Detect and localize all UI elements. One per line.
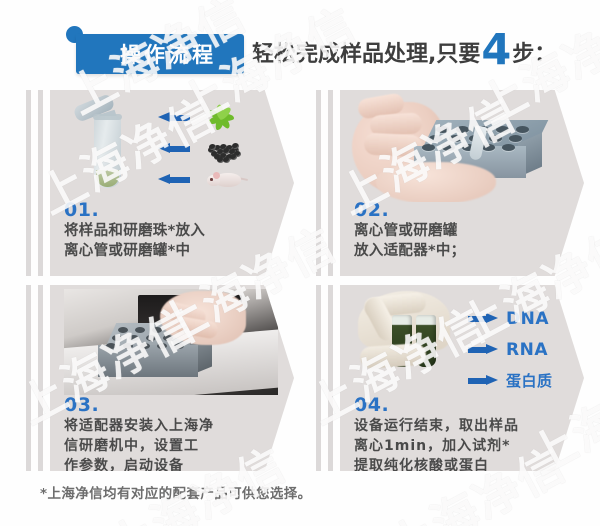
step-text-block-03: 03. 将适配器安装入上海净 信研磨机中，设置工 作参数，启动设备 [64, 395, 284, 476]
step-number: 01. [64, 200, 284, 220]
card-body: 03. 将适配器安装入上海净 信研磨机中，设置工 作参数，启动设备 [50, 285, 294, 471]
card-body: 02. 离心管或研磨罐 放入适配器*中； [340, 90, 584, 276]
gloved-hand-with-vials-photo [354, 289, 474, 393]
step-text-block-01: 01. 将样品和研磨珠*放入 离心管或研磨罐*中 [64, 200, 284, 261]
step-artwork-03 [50, 285, 294, 397]
steps-grid: 01. 将样品和研磨珠*放入 离心管或研磨罐*中 [0, 88, 600, 476]
step-artwork-01 [50, 90, 294, 202]
leaf-sample-icon [204, 104, 248, 130]
step-artwork-02 [340, 90, 584, 202]
output-list: DNA RNA 蛋白质 [468, 307, 578, 397]
adapter-well [118, 327, 128, 333]
step-number: 03. [64, 395, 284, 415]
arrow-left-icon [158, 143, 190, 154]
headline-step-count: 4 [481, 29, 511, 72]
adapter-well [482, 144, 495, 151]
step-card-02: 02. 离心管或研磨罐 放入适配器*中； [316, 90, 584, 276]
step-card-04: DNA RNA 蛋白质 [316, 285, 584, 471]
adapter-well [516, 126, 529, 133]
step-description: 将样品和研磨珠*放入 离心管或研磨罐*中 [64, 221, 284, 261]
card-accent-bar [316, 90, 321, 276]
adapter-well [129, 335, 139, 341]
headline: 轻松完成样品处理,只要 4 步： [252, 26, 556, 69]
card-accent-bar [328, 285, 333, 471]
adapter-well [502, 144, 515, 151]
adapter-well [509, 135, 522, 142]
card-accent-bar [38, 285, 43, 471]
step-text-block-02: 02. 离心管或研磨罐 放入适配器*中； [354, 200, 574, 261]
adapter-well [140, 343, 150, 349]
step-text-block-04: 04. 设备运行结束，取出样品 离心1min，加入试剂* 提取纯化核酸或蛋白 [354, 395, 574, 476]
adapter-well [449, 135, 462, 142]
output-label: DNA [506, 309, 549, 329]
card-accent-bar [26, 90, 31, 276]
adapter-well [456, 126, 469, 133]
sample-row-mouse [158, 168, 278, 190]
adapter-well [422, 144, 435, 151]
hand-with-adapter-photo [346, 92, 578, 202]
mouse-sample-icon [204, 166, 248, 192]
arrow-right-icon [468, 344, 498, 355]
step-artwork-04: DNA RNA 蛋白质 [340, 285, 584, 397]
adapter-well [157, 343, 167, 349]
step-card-01: 01. 将样品和研磨珠*放入 离心管或研磨罐*中 [26, 90, 294, 276]
banner-title: 操作流程 [76, 34, 244, 74]
adapter-well [146, 335, 156, 341]
adapter-well [489, 135, 502, 142]
step-number: 02. [354, 200, 574, 220]
output-label: RNA [506, 340, 548, 360]
adapter-well [174, 343, 184, 349]
output-label: 蛋白质 [506, 370, 553, 391]
headline-suffix: 步： [512, 36, 556, 68]
arrow-right-icon [468, 375, 498, 386]
centrifuge-tube-icon [82, 98, 126, 194]
card-accent-bar [316, 285, 321, 471]
card-accent-bar [328, 90, 333, 276]
adapter-well [429, 135, 442, 142]
arrow-left-icon [158, 174, 190, 185]
adapter-block-front [98, 345, 198, 377]
thumb-shape [359, 343, 426, 370]
adapter-well [112, 335, 122, 341]
beads-sample-icon [204, 135, 248, 161]
adapter-well [442, 144, 455, 151]
output-row-rna: RNA [468, 338, 578, 361]
headline-prefix: 轻松完成样品处理,只要 [252, 36, 480, 68]
card-accent-bar [26, 285, 31, 471]
adapter-well [152, 327, 162, 333]
arrow-right-icon [468, 313, 498, 324]
adapter-well [106, 343, 116, 349]
sample-row-beads [158, 137, 278, 159]
header: 操作流程 轻松完成样品处理,只要 4 步： [0, 0, 600, 86]
grinder-machine-photo [64, 289, 278, 395]
arrow-left-icon [158, 112, 190, 123]
card-accent-bar [38, 90, 43, 276]
adapter-well [123, 343, 133, 349]
step-description: 设备运行结束，取出样品 离心1min，加入试剂* 提取纯化核酸或蛋白 [354, 416, 574, 476]
tube-rim-icon [93, 114, 122, 120]
step-description: 将适配器安装入上海净 信研磨机中，设置工 作参数，启动设备 [64, 416, 284, 476]
adapter-well [496, 126, 509, 133]
sample-row-leaf [158, 106, 278, 128]
step-number: 04. [354, 395, 574, 415]
palm-shape [376, 162, 496, 202]
step-description: 离心管或研磨罐 放入适配器*中； [354, 221, 574, 261]
adapter-well [436, 126, 449, 133]
output-row-dna: DNA [468, 307, 578, 330]
output-row-protein: 蛋白质 [468, 369, 578, 392]
footer-note: *上海净信均有对应的配套产品可供您选择。 [40, 482, 312, 502]
card-body: 01. 将样品和研磨珠*放入 离心管或研磨罐*中 [50, 90, 294, 276]
infographic-page: 操作流程 轻松完成样品处理,只要 4 步： [0, 0, 600, 526]
step-card-03: 03. 将适配器安装入上海净 信研磨机中，设置工 作参数，启动设备 [26, 285, 294, 471]
adapter-well [135, 327, 145, 333]
card-body: DNA RNA 蛋白质 [340, 285, 584, 471]
